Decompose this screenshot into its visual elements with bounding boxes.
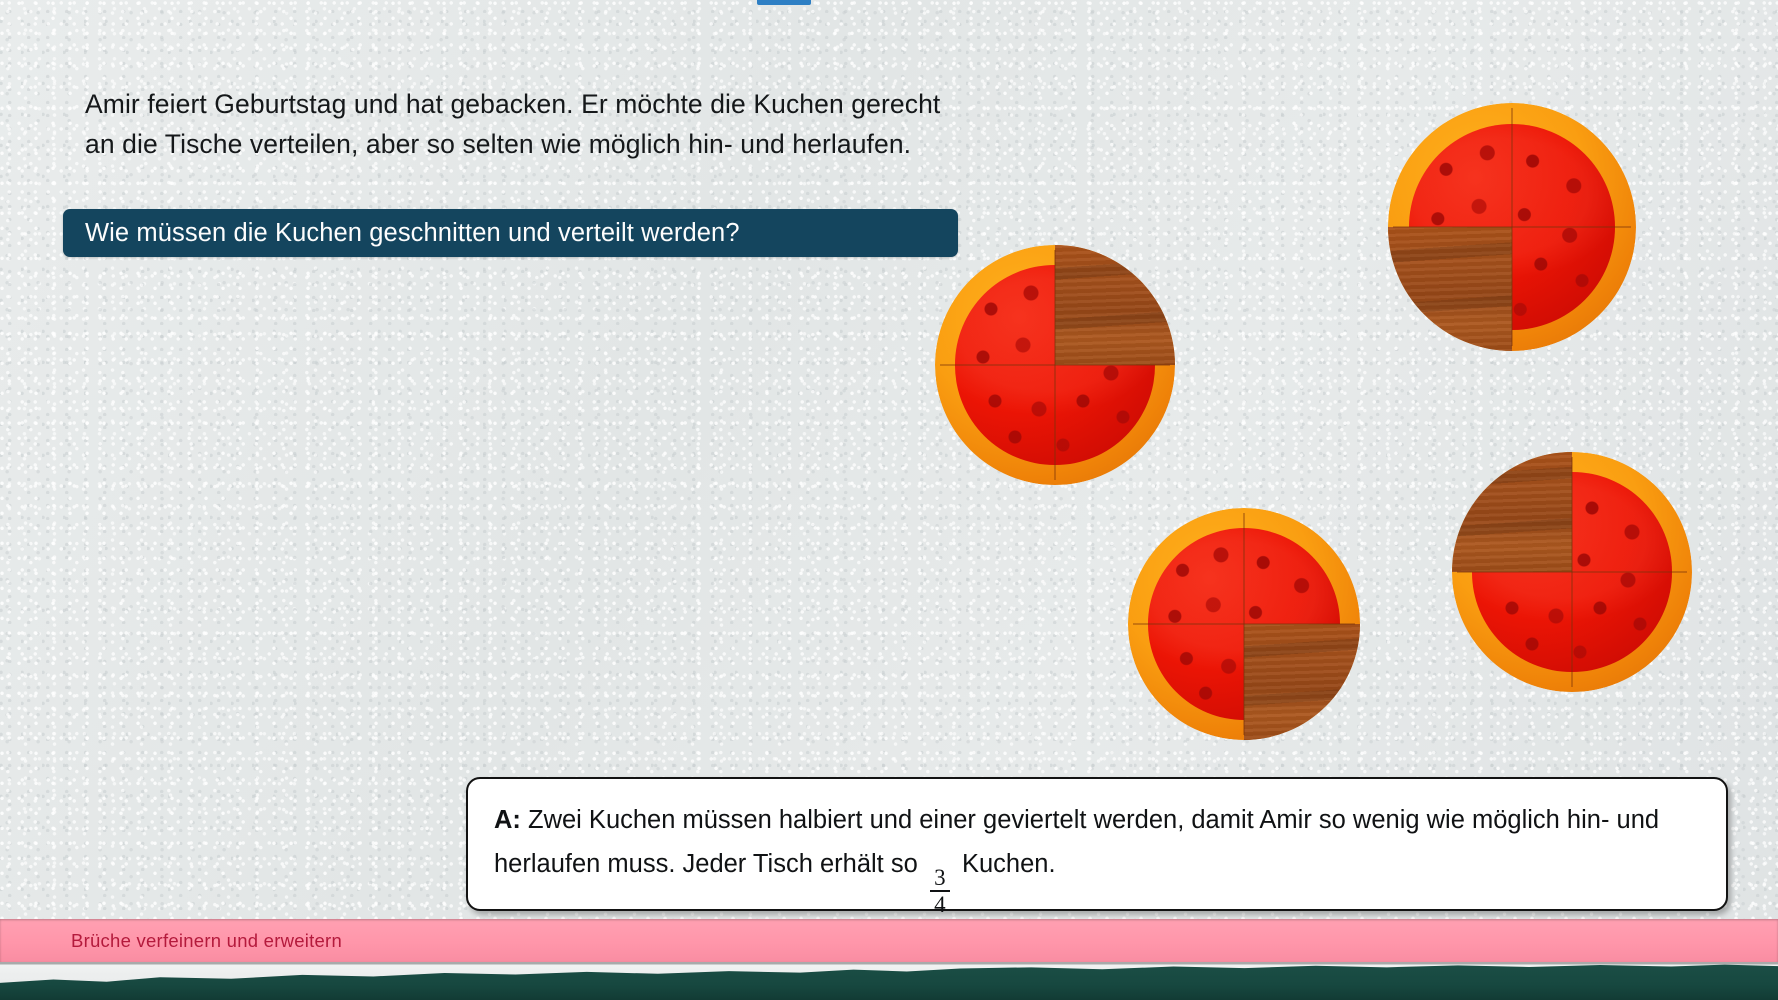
intro-line-1: Amir feiert Geburtstag und hat gebacken.…: [85, 84, 1185, 124]
cake-1-cut-horizontal: [940, 364, 1170, 366]
cake-1-disc: [935, 245, 1175, 485]
cake-2: [1388, 103, 1636, 351]
question-text: Wie müssen die Kuchen geschnitten und ve…: [85, 219, 740, 248]
fraction-denominator: 4: [934, 892, 946, 916]
cake-4-cut-horizontal: [1457, 571, 1687, 573]
cake-3-missing-quarter: [1244, 624, 1360, 740]
cake-1: [935, 245, 1175, 485]
cake-4: [1452, 452, 1692, 692]
intro-line-2: an die Tische verteilen, aber so selten …: [85, 124, 1185, 164]
cake-3-disc: [1128, 508, 1360, 740]
bottom-torn-band: [0, 962, 1778, 1000]
intro-paragraph: Amir feiert Geburtstag und hat gebacken.…: [85, 84, 1185, 164]
topic-label: Brüche verfeinern und erweitern: [71, 930, 342, 952]
answer-part-2: Kuchen.: [955, 850, 1056, 878]
answer-box: A: Zwei Kuchen müssen halbiert und einer…: [466, 777, 1728, 911]
question-banner: Wie müssen die Kuchen geschnitten und ve…: [63, 209, 958, 257]
cake-4-missing-quarter: [1452, 452, 1572, 572]
answer-text: A: Zwei Kuchen müssen halbiert und einer…: [494, 798, 1700, 916]
cake-2-disc: [1388, 103, 1636, 351]
slide-canvas: Amir feiert Geburtstag und hat gebacken.…: [0, 0, 1778, 1000]
cake-3-cut-horizontal: [1133, 623, 1356, 625]
bottom-band-edge: [0, 962, 1778, 1000]
top-progress-tab[interactable]: [757, 0, 811, 5]
cake-1-missing-quarter: [1055, 245, 1175, 365]
cake-3: [1128, 508, 1360, 740]
cake-4-disc: [1452, 452, 1692, 692]
fraction-numerator: 3: [934, 866, 946, 890]
cake-2-cut-horizontal: [1393, 226, 1631, 228]
cake-2-missing-quarter: [1388, 227, 1512, 351]
answer-prefix: A:: [494, 806, 521, 834]
answer-fraction: 34: [930, 866, 950, 916]
topic-footer-strip: Brüche verfeinern und erweitern: [0, 919, 1778, 962]
answer-part-1: Zwei Kuchen müssen halbiert und einer ge…: [494, 806, 1659, 878]
